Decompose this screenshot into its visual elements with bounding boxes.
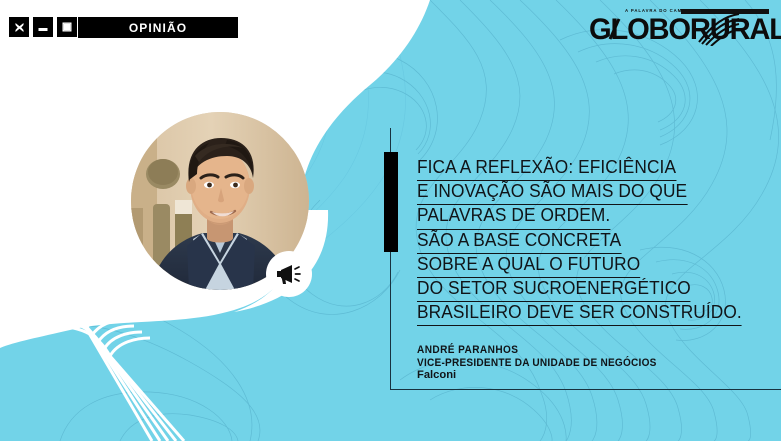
quote-line: SÃO A BASE CONCRETA: [417, 228, 621, 254]
quote-line: BRASILEIRO DEVE SER CONSTRUÍDO.: [417, 300, 742, 326]
attribution-block: ANDRÉ PARANHOS VICE-PRESIDENTE DA UNIDAD…: [417, 344, 669, 382]
quote-line: PALAVRAS DE ORDEM.: [417, 203, 610, 229]
quote-line-row: SÃO A BASE CONCRETA: [417, 228, 767, 252]
quote-line-row: DO SETOR SUCROENERGÉTICO: [417, 276, 767, 300]
opinion-quote-card: OPINIÃO A PALAVRA DO CAMPO GLOBORURAL: [0, 0, 781, 441]
maximize-icon: [61, 21, 73, 33]
quote-line: E INOVAÇÃO SÃO MAIS DO QUE: [417, 179, 687, 205]
author-role: VICE-PRESIDENTE DA UNIDADE DE NEGÓCIOS: [417, 357, 657, 370]
maximize-button[interactable]: [57, 17, 77, 37]
quote-line: FICA A REFLEXÃO: EFICIÊNCIA: [417, 155, 676, 181]
quote-line-row: E INOVAÇÃO SÃO MAIS DO QUE: [417, 179, 767, 203]
close-icon: [14, 22, 25, 33]
opiniao-label: OPINIÃO: [129, 22, 187, 34]
quote-text-block: FICA A REFLEXÃO: EFICIÊNCIA E INOVAÇÃO S…: [417, 155, 767, 324]
megaphone-icon: [275, 262, 303, 286]
author-organization: Falconi: [417, 369, 669, 382]
minimize-button[interactable]: [33, 17, 53, 37]
minimize-icon: [37, 22, 49, 33]
quote-frame-horizontal-line: [390, 389, 781, 390]
quote-line: SOBRE A QUAL O FUTURO: [417, 252, 640, 278]
quote-line-row: BRASILEIRO DEVE SER CONSTRUÍDO.: [417, 300, 767, 324]
window-controls[interactable]: [9, 17, 77, 37]
logo-road-mark: [695, 12, 741, 46]
close-button[interactable]: [9, 17, 29, 37]
megaphone-badge: [266, 251, 312, 297]
author-name: ANDRÉ PARANHOS: [417, 344, 657, 357]
quote-line-row: PALAVRAS DE ORDEM.: [417, 203, 767, 227]
quote-line-row: FICA A REFLEXÃO: EFICIÊNCIA: [417, 155, 767, 179]
quote-accent-bar: [384, 152, 398, 252]
globo-rural-logo[interactable]: A PALAVRA DO CAMPO GLOBORURAL: [589, 8, 771, 52]
quote-line-row: SOBRE A QUAL O FUTURO: [417, 252, 767, 276]
opiniao-banner: OPINIÃO: [78, 17, 238, 38]
quote-line: DO SETOR SUCROENERGÉTICO: [417, 276, 691, 302]
